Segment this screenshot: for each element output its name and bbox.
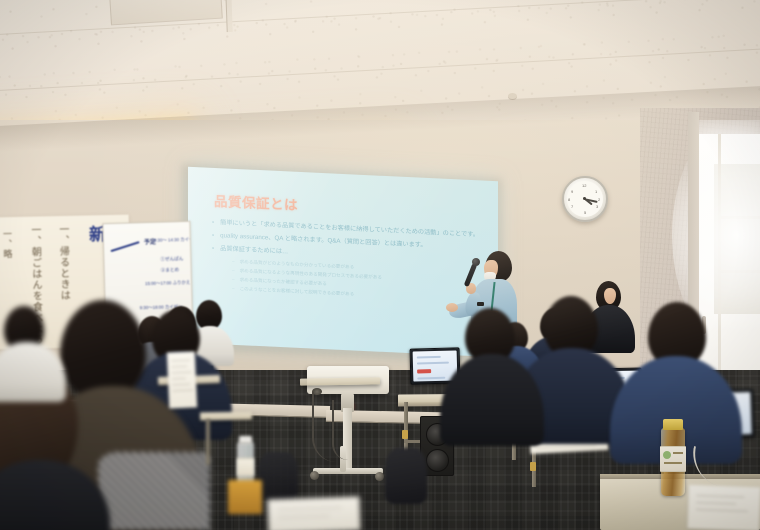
clock-numeral: 9 — [571, 189, 573, 194]
bottle-label — [660, 446, 686, 472]
ceiling-pipe — [225, 0, 232, 32]
desk-joint — [530, 462, 536, 471]
orange-box — [228, 480, 262, 514]
paper-text-line — [536, 445, 596, 449]
window-mullion — [721, 216, 760, 219]
presenter-hand-left — [446, 303, 458, 312]
bottle-cap — [663, 419, 683, 430]
whiteboard-line: ②まとめ — [161, 267, 180, 274]
clock-numeral: 5 — [584, 210, 586, 215]
desk-joint — [402, 430, 408, 439]
clock-numeral: 7 — [571, 204, 573, 209]
bottle-cap — [239, 436, 252, 444]
desk-leg — [206, 419, 210, 465]
paper-text-line — [172, 390, 193, 392]
screen-light-wash — [188, 167, 498, 358]
handout-papers — [267, 496, 360, 530]
speaker-driver — [426, 449, 449, 472]
label-graphic — [663, 451, 671, 459]
backpack — [258, 452, 298, 500]
paper-text-line — [696, 509, 748, 512]
microphone-head — [472, 258, 480, 266]
projector-cable — [332, 400, 348, 460]
clock-face: 12 1 2 3 5 7 8 9 — [567, 181, 603, 217]
whiteboard-underline — [110, 241, 139, 252]
paper-text-line — [696, 495, 744, 498]
projector-caster[interactable] — [375, 472, 384, 481]
calligraphy-column: 一、帰るときは — [55, 224, 72, 328]
clock-numeral: 8 — [568, 197, 570, 202]
handout-papers — [687, 485, 760, 530]
backpack — [385, 448, 427, 504]
checkered-jacket — [98, 452, 210, 530]
paper-text-line — [172, 372, 192, 374]
whiteboard-line: ①ぜんぱん — [160, 256, 183, 263]
window-mullion — [721, 270, 760, 273]
clock-numeral: 2 — [598, 197, 600, 202]
wall-clock: 12 1 2 3 5 7 8 9 — [562, 176, 608, 222]
paper-text-line — [172, 384, 190, 386]
label-text-line — [664, 462, 682, 464]
clock-numeral: 12 — [582, 183, 586, 188]
clock-numeral: 1 — [595, 189, 597, 194]
projection-screen: 品質保証とは ▪ 簡単にいうと「求める品質であることをお客様に納得していただくた… — [188, 167, 498, 358]
paper-text-line — [172, 378, 186, 380]
paper-text-line — [171, 360, 190, 362]
whiteboard-line: 15:00〜17:00 ふりかえり — [145, 280, 194, 287]
seminar-room-photo: 品質保証とは ▪ 簡単にいうと「求める品質であることをお客様に納得していただくた… — [0, 0, 760, 530]
screen-text-line — [417, 377, 445, 380]
desk — [300, 377, 380, 385]
whiteboard-line: 9:30〜 14:30 カイゼン ワークショップ — [154, 236, 194, 244]
paper-text-line — [696, 502, 736, 504]
projector-caster[interactable] — [310, 471, 319, 480]
clock-numeral: 3 — [596, 204, 598, 209]
paper-text-line — [171, 366, 187, 368]
screen-text-line — [417, 362, 449, 365]
bottle-label — [237, 458, 254, 476]
projector-stand-foot — [313, 468, 383, 474]
screen-text-line — [417, 356, 441, 359]
clock-center-pin — [583, 197, 586, 200]
paper-text-line — [278, 515, 330, 518]
paper-text-line — [278, 507, 342, 510]
wristwatch — [477, 302, 484, 306]
label-text-line — [673, 452, 683, 454]
head — [60, 300, 146, 400]
handout-papers — [167, 351, 197, 408]
screen-highlight — [417, 369, 431, 373]
